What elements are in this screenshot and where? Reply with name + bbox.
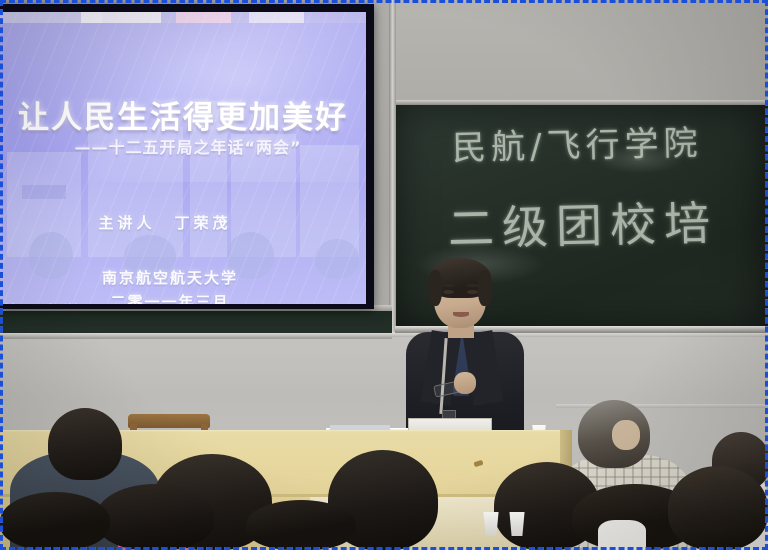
slide-speaker-line: 主讲人 丁荣茂: [0, 212, 330, 233]
wall-trim-right: [556, 404, 768, 408]
slide-watermark: 航天大学: [2, 298, 82, 304]
slide-top-strip: [0, 12, 366, 23]
slide-light-rays: [0, 12, 366, 304]
blackboard-left-lower: [0, 311, 392, 335]
presenter-mouth: [453, 312, 469, 317]
presenter-hair-side-left: [428, 270, 442, 306]
blackboard-top-frame: [395, 100, 768, 105]
audience-head: [48, 408, 122, 480]
audience-head: [246, 500, 356, 550]
slide-title: 让人民生活得更加美好: [8, 92, 358, 137]
projection-screen: 让人民生活得更加美好 ——十二五开局之年话“两会” 主讲人 丁荣茂 南京航空航天…: [0, 12, 366, 304]
blackboard-text-line-2: 二级团校培: [447, 187, 718, 259]
presenter-eye-right: [467, 290, 478, 294]
audience-ear: [612, 420, 640, 450]
blackboard-text-line-1: 民航/飞行学院: [452, 115, 703, 169]
chair-backrest-top: [128, 414, 210, 428]
audience-white-collar: [598, 520, 646, 550]
presenter-hair-side-right: [478, 270, 492, 306]
blackboard-left-frame: [389, 0, 396, 332]
presenter-hand: [454, 372, 476, 394]
presenter-eye-left: [443, 290, 454, 294]
slide-subtitle: ——十二五开局之年话“两会”: [8, 134, 366, 158]
presenter-eyebrow-right: [466, 284, 479, 287]
wall-upper-section: [392, 0, 768, 112]
audience-head: [96, 484, 214, 550]
lecture-hall-photo: 民航/飞行学院 二级团校培: [0, 0, 768, 550]
audience-head: [0, 492, 110, 550]
slide-organization: 南京航空航天大学: [0, 267, 340, 288]
projection-screen-frame: 让人民生活得更加美好 ——十二五开局之年话“两会” 主讲人 丁荣茂 南京航空航天…: [0, 4, 374, 309]
presenter-eyebrow-left: [442, 284, 455, 287]
audience-head: [668, 466, 768, 550]
blackboard-left-rail: [0, 333, 392, 339]
